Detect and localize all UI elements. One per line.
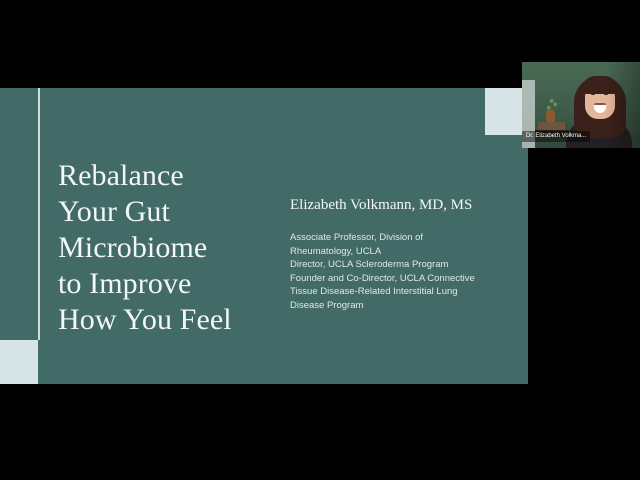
webcam-vignette <box>606 62 640 148</box>
presenter-eye-left <box>591 93 595 95</box>
presentation-slide: Rebalance Your Gut Microbiome to Improve… <box>0 88 528 384</box>
speaker-credential-line: Founder and Co-Director, UCLA Connective <box>290 272 515 286</box>
webcam-participant-label: Dr. Elizabeth Volkma... <box>522 131 590 142</box>
title-line: Rebalance <box>58 158 288 194</box>
decorative-block-bottom-left <box>0 340 38 384</box>
webcam-video-overlay[interactable]: Dr. Elizabeth Volkma... <box>522 62 640 148</box>
title-line: Your Gut <box>58 194 288 230</box>
title-line: How You Feel <box>58 302 288 338</box>
title-line: Microbiome <box>58 230 288 266</box>
speaker-credential-line: Tissue Disease-Related Interstitial Lung <box>290 285 515 299</box>
speaker-credential-line: Disease Program <box>290 299 515 313</box>
speaker-credential-line: Rheumatology, UCLA <box>290 245 515 259</box>
decorative-vertical-line <box>38 88 40 340</box>
speaker-info: Elizabeth Volkmann, MD, MS Associate Pro… <box>290 196 515 312</box>
speaker-credential-line: Director, UCLA Scleroderma Program <box>290 258 515 272</box>
speaker-credential-line: Associate Professor, Division of <box>290 231 515 245</box>
title-line: to Improve <box>58 266 288 302</box>
slide-title: Rebalance Your Gut Microbiome to Improve… <box>58 158 288 338</box>
speaker-name: Elizabeth Volkmann, MD, MS <box>290 196 515 215</box>
video-player-stage: Rebalance Your Gut Microbiome to Improve… <box>0 0 640 480</box>
